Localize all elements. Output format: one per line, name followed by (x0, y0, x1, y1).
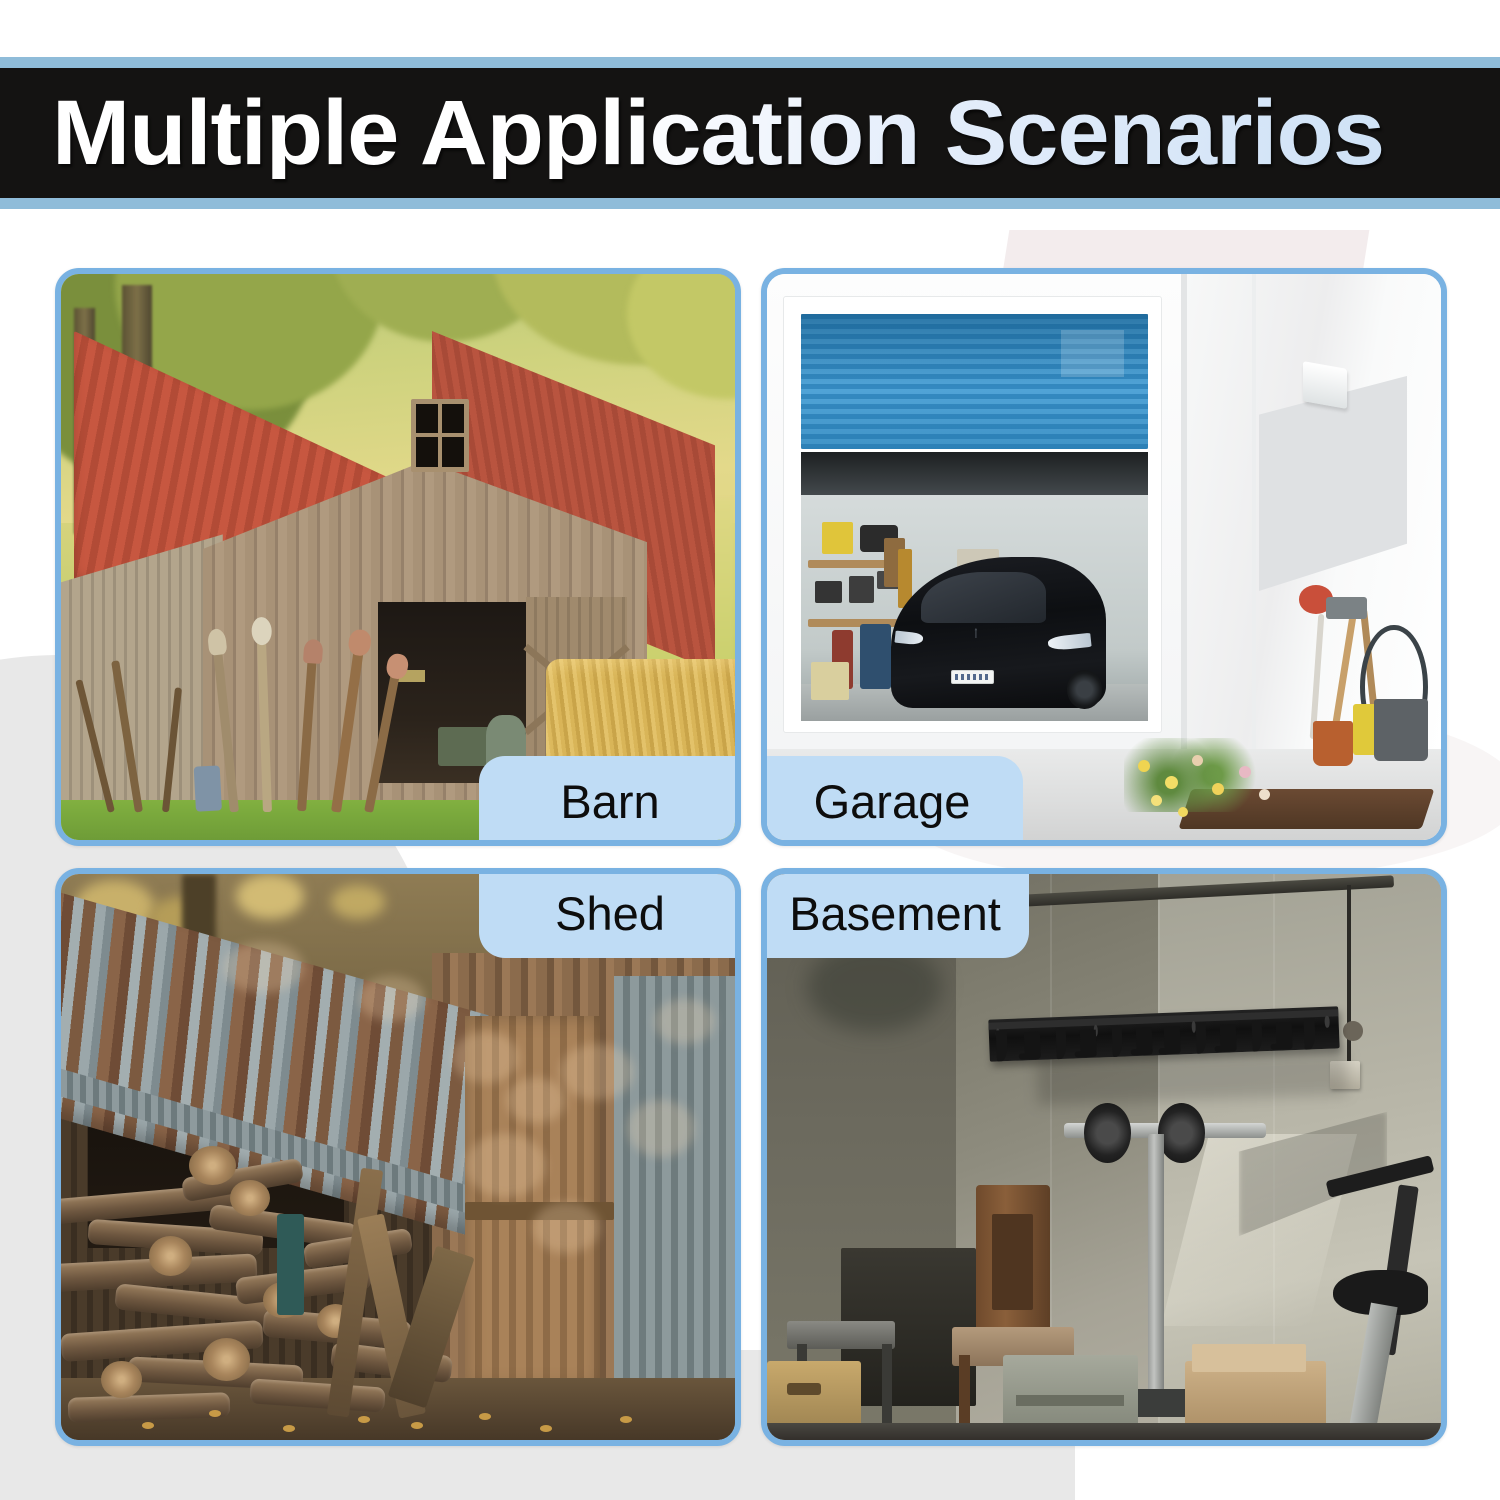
garage-photo: Garage (767, 274, 1441, 840)
scenario-panel-shed[interactable]: Shed (55, 868, 741, 1446)
panel-label-basement: Basement (767, 874, 1029, 958)
squat-stand-post (1148, 1134, 1164, 1400)
panel-label-garage: Garage (767, 756, 1023, 840)
panel-label-barn: Barn (479, 756, 735, 840)
scenario-grid: Barn (55, 268, 1447, 1448)
shed-photo: Shed (61, 874, 735, 1440)
scenario-panel-garage[interactable]: Garage (761, 268, 1447, 846)
header-banner: Multiple Application Scenarios (0, 68, 1500, 198)
garage-opening (801, 452, 1148, 721)
license-plate (951, 670, 994, 684)
page-title: Multiple Application Scenarios (52, 87, 1384, 179)
roller-shutter-door (801, 314, 1148, 450)
weight-plate (1084, 1103, 1131, 1162)
infographic-page: Multiple Application Scenarios (0, 0, 1500, 1500)
basement-photo: Basement (767, 874, 1441, 1440)
weight-plate (1158, 1103, 1205, 1162)
scenario-panel-basement[interactable]: Basement (761, 868, 1447, 1446)
scenario-panel-barn[interactable]: Barn (55, 268, 741, 846)
panel-label-shed: Shed (479, 874, 735, 958)
barn-photo: Barn (61, 274, 735, 840)
exterior-wall-light (1303, 361, 1347, 408)
barn-loft-window (411, 399, 468, 473)
